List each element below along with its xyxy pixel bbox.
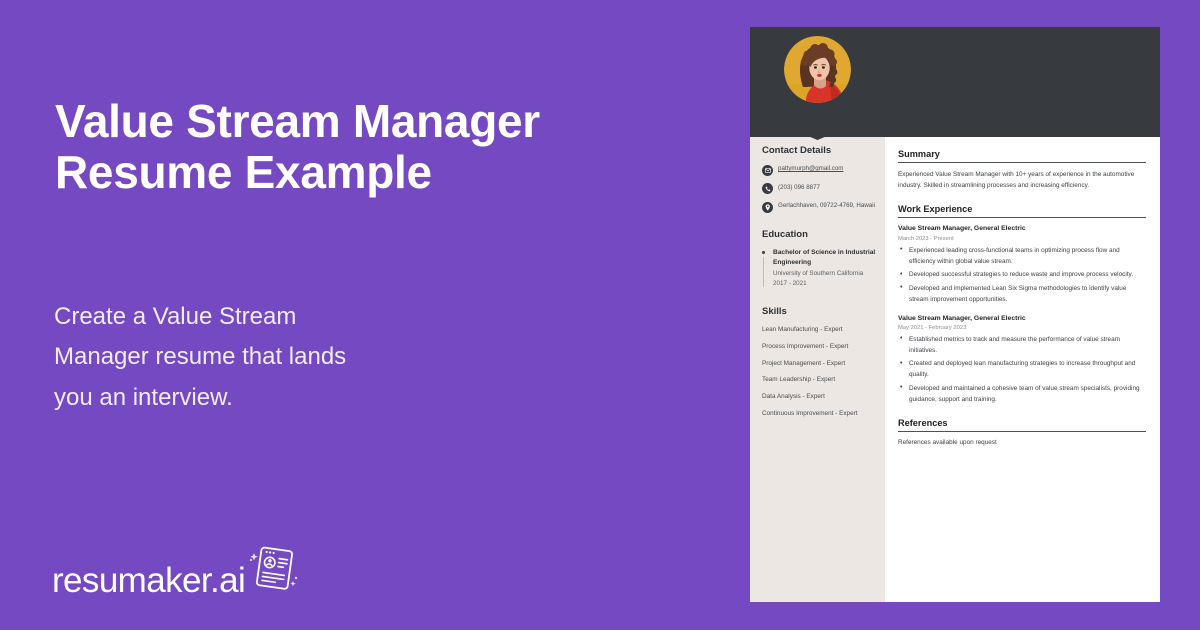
promo-subtitle: Create a Value Stream Manager resume tha…: [54, 297, 474, 418]
job-dates: March 2023 - Present: [898, 236, 1146, 242]
phone-icon: [762, 183, 773, 194]
education-school: University of Southern California: [773, 269, 877, 279]
work-experience-section: Work Experience Value Stream Manager, Ge…: [898, 204, 1146, 405]
education-degree: Bachelor of Science in Industrial Engine…: [773, 248, 877, 269]
job-bullet: Developed and implemented Lean Six Sigma…: [898, 283, 1146, 305]
job-title: Value Stream Manager, General Electric: [898, 224, 1146, 234]
resume-sidebar-content: Contact Details pattymurph@gmail.com (20…: [762, 145, 877, 426]
location-pin-icon: [762, 202, 773, 213]
contact-details-section: Contact Details pattymurph@gmail.com (20…: [762, 145, 877, 213]
job-bullet-list: Experienced leading cross-functional tea…: [898, 245, 1146, 305]
summary-heading: Summary: [898, 149, 1146, 163]
skill-item: Project Management - Expert: [762, 359, 877, 369]
education-dates: 2017 - 2021: [773, 279, 877, 289]
resume-document-icon: [247, 544, 299, 597]
brand-logo[interactable]: resumaker.ai: [52, 544, 299, 598]
resume-main-content: Summary Experienced Value Stream Manager…: [898, 149, 1146, 461]
education-heading: Education: [762, 229, 877, 240]
references-section: References References available upon req…: [898, 418, 1146, 448]
summary-section: Summary Experienced Value Stream Manager…: [898, 149, 1146, 191]
contact-row-email[interactable]: pattymurph@gmail.com: [762, 164, 877, 176]
contact-phone: (203) 096 8877: [778, 183, 820, 193]
summary-text: Experienced Value Stream Manager with 10…: [898, 169, 1146, 191]
contact-address: Gerlachhaven, 09722-4769, Hawaii: [778, 201, 875, 211]
education-item: Bachelor of Science in Industrial Engine…: [762, 248, 877, 289]
bullet-dot-icon: [762, 251, 765, 254]
job-bullet: Developed and maintained a cohesive team…: [898, 383, 1146, 405]
job-entry: Value Stream Manager, General Electric M…: [898, 314, 1146, 405]
promo-subtitle-line-2: Manager resume that lands: [54, 343, 346, 370]
job-bullet-list: Established metrics to track and measure…: [898, 334, 1146, 405]
promo-subtitle-line-1: Create a Value Stream: [54, 303, 296, 330]
timeline-rule: [763, 257, 764, 287]
skills-section: Skills Lean Manufacturing - Expert Proce…: [762, 306, 877, 420]
contact-email[interactable]: pattymurph@gmail.com: [778, 164, 843, 174]
avatar: [784, 36, 851, 103]
job-dates: May 2021 - February 2023: [898, 325, 1146, 331]
contact-row-phone: (203) 096 8877: [762, 183, 877, 195]
job-bullet: Established metrics to track and measure…: [898, 334, 1146, 356]
promo-panel: Value Stream Manager Resume Example Crea…: [0, 0, 750, 630]
skill-item: Continuous Improvement - Expert: [762, 409, 877, 419]
references-heading: References: [898, 418, 1146, 432]
skill-item: Lean Manufacturing - Expert: [762, 325, 877, 335]
job-bullet: Developed successful strategies to reduc…: [898, 269, 1146, 280]
work-experience-heading: Work Experience: [898, 204, 1146, 218]
header-notch-shape: [750, 110, 885, 140]
contact-row-address: Gerlachhaven, 09722-4769, Hawaii: [762, 201, 877, 213]
promo-subtitle-line-3: you an interview.: [54, 384, 233, 411]
page-title: Value Stream Manager Resume Example: [55, 96, 615, 197]
page-title-line-1: Value Stream Manager: [55, 95, 540, 147]
references-text: References available upon request: [898, 438, 1146, 448]
contact-details-heading: Contact Details: [762, 145, 877, 156]
envelope-icon: [762, 165, 773, 176]
job-title: Value Stream Manager, General Electric: [898, 314, 1146, 324]
job-bullet: Created and deployed lean manufacturing …: [898, 358, 1146, 380]
education-section: Education Bachelor of Science in Industr…: [762, 229, 877, 289]
skill-item: Process Improvement - Expert: [762, 342, 877, 352]
job-bullet: Experienced leading cross-functional tea…: [898, 245, 1146, 267]
brand-wordmark: resumaker.ai: [52, 563, 245, 598]
resume-preview-card[interactable]: Patty Murph Value Stream Manager Contact…: [750, 27, 1160, 602]
job-entry: Value Stream Manager, General Electric M…: [898, 224, 1146, 304]
page-title-line-2: Resume Example: [55, 146, 432, 198]
skills-heading: Skills: [762, 306, 877, 317]
skill-item: Data Analysis - Expert: [762, 392, 877, 402]
skill-item: Team Leadership - Expert: [762, 375, 877, 385]
